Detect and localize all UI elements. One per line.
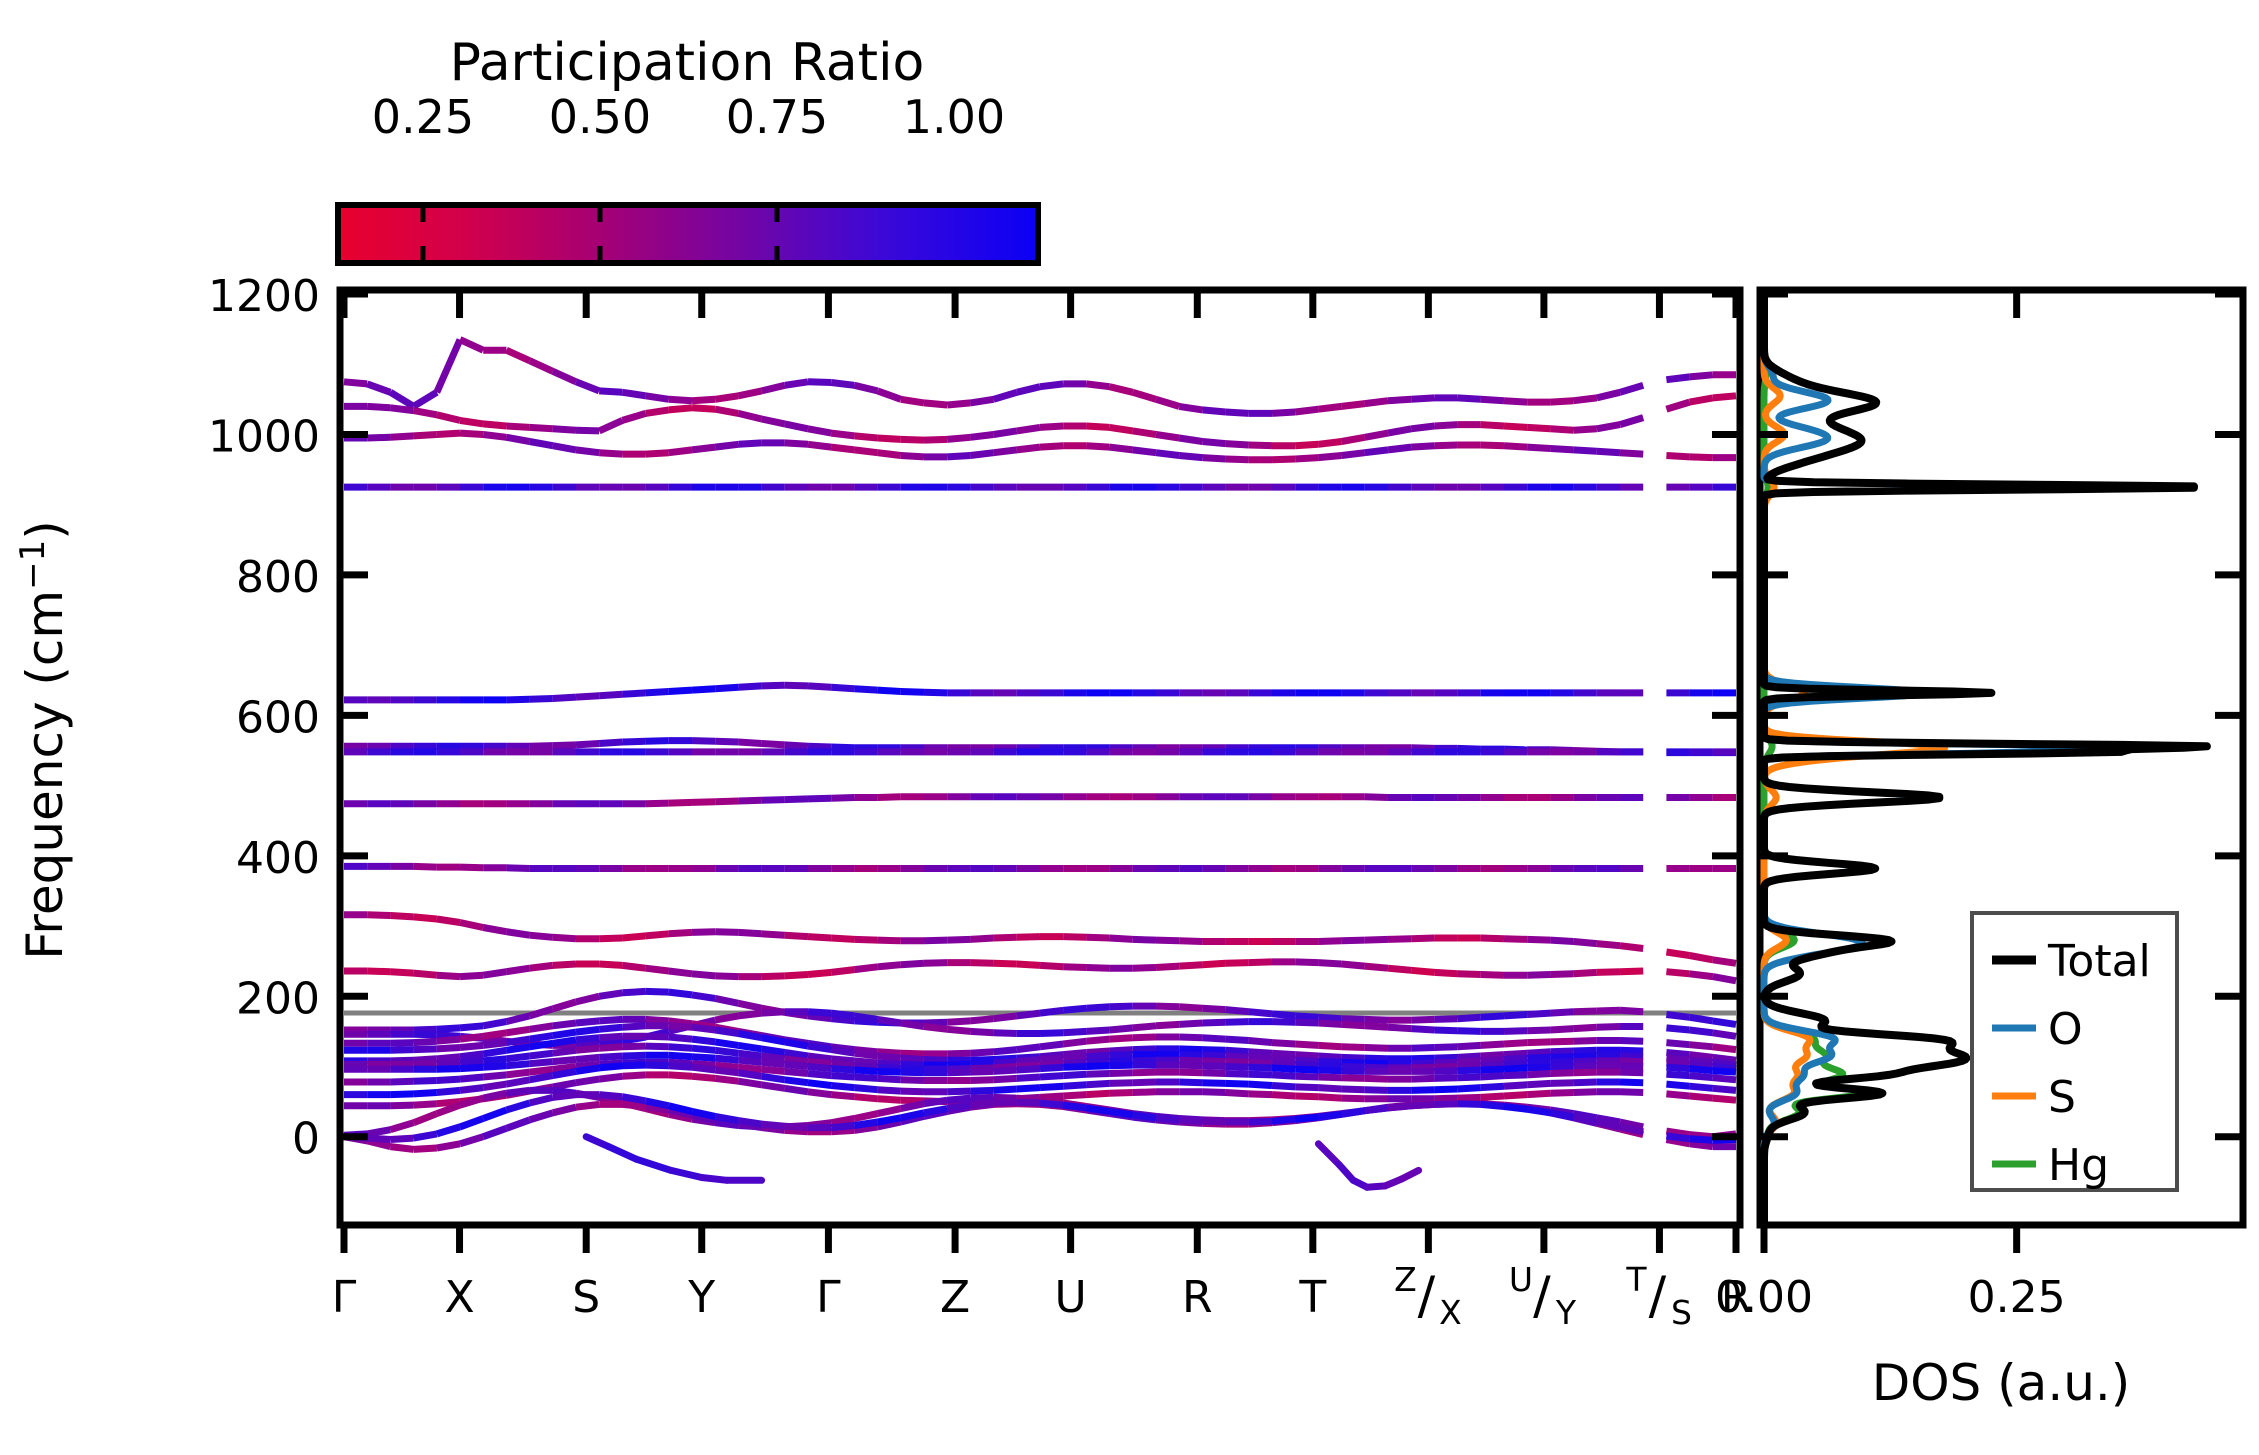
y-axis-label-exponent: −1	[13, 540, 53, 590]
fraction-slash: /	[1649, 1266, 1667, 1326]
colorbar-tick-1: 0.50	[549, 90, 651, 144]
x-tick-label-6: U	[1055, 1272, 1087, 1323]
fraction-slash: /	[1533, 1266, 1551, 1326]
y-tick-label-1200: 1200	[208, 271, 320, 322]
colorbar-tick-labels: 0.25 0.50 0.75 1.00	[372, 90, 1005, 144]
legend-label-hg: Hg	[2048, 1140, 2109, 1191]
y-tick-label-600: 600	[236, 692, 320, 743]
colorbar-tick-2: 0.75	[726, 90, 828, 144]
x-tick-label-1: X	[444, 1272, 474, 1323]
x-tick-label-fraction-10: U/Y	[1509, 1260, 1577, 1332]
x-tick-label-0: Γ	[332, 1272, 357, 1323]
colorbar-gradient	[338, 205, 1038, 263]
y-axis-label-group: Frequency (cm−1)	[13, 520, 74, 960]
x-tick-label-5: Z	[940, 1272, 970, 1323]
fraction-numerator: U	[1509, 1260, 1533, 1299]
fraction-denominator: Y	[1555, 1293, 1577, 1332]
dos-x-tick-label-0: 0.00	[1715, 1272, 1813, 1323]
x-tick-label-8: T	[1298, 1272, 1326, 1323]
x-tick-label-fraction-11: T/S	[1625, 1260, 1692, 1332]
x-tick-label-7: R	[1182, 1272, 1213, 1323]
dos-legend[interactable]: TotalOSHg	[1972, 913, 2177, 1191]
y-tick-label-800: 800	[236, 552, 320, 603]
fraction-numerator: Z	[1394, 1260, 1417, 1299]
x-tick-label-2: S	[572, 1272, 600, 1323]
y-tick-label-1000: 1000	[208, 411, 320, 462]
colorbar-group: Participation Ratio 0.25 0.50 0.75 1.00	[338, 33, 1038, 263]
dos-axis-label: DOS (a.u.)	[1872, 1354, 2131, 1412]
figure-canvas: Participation Ratio 0.25 0.50 0.75 1.00 …	[0, 0, 2259, 1455]
svg-text:Frequency (cm−1): Frequency (cm−1)	[13, 520, 74, 960]
dos-x-tick-labels: 0.000.25	[1715, 1272, 2066, 1323]
colorbar-title: Participation Ratio	[450, 33, 925, 93]
band-y-tick-labels: 020040060080010001200	[208, 271, 320, 1165]
band-x-tick-labels: ΓXSYΓZURTZ/XU/YT/SR	[332, 1260, 1752, 1332]
x-tick-label-fraction-9: Z/X	[1394, 1260, 1462, 1332]
legend-label-o: O	[2048, 1004, 2083, 1055]
legend-label-s: S	[2048, 1072, 2076, 1123]
colorbar-tick-3: 1.00	[903, 90, 1005, 144]
dos-panel: 0.000.25 DOS (a.u.)	[1715, 290, 2243, 1412]
fraction-numerator: T	[1625, 1260, 1647, 1299]
colorbar-tick-0: 0.25	[372, 90, 474, 144]
legend-label-total: Total	[2047, 936, 2151, 987]
x-tick-label-4: Γ	[816, 1272, 841, 1323]
band-structure-panel: 020040060080010001200 ΓXSYΓZURTZ/XU/YT/S…	[208, 271, 1751, 1332]
y-tick-label-200: 200	[236, 973, 320, 1024]
y-axis-label-main: Frequency (cm	[16, 590, 74, 960]
y-tick-label-400: 400	[236, 833, 320, 884]
x-tick-label-3: Y	[687, 1272, 715, 1323]
fraction-slash: /	[1418, 1266, 1436, 1326]
fraction-denominator: X	[1439, 1293, 1462, 1332]
fraction-denominator: S	[1671, 1293, 1692, 1332]
dos-x-tick-label-1: 0.25	[1968, 1272, 2066, 1323]
y-tick-label-0: 0	[292, 1114, 320, 1165]
y-axis-label-close: )	[16, 520, 74, 540]
figure-svg: Participation Ratio 0.25 0.50 0.75 1.00 …	[0, 0, 2259, 1455]
